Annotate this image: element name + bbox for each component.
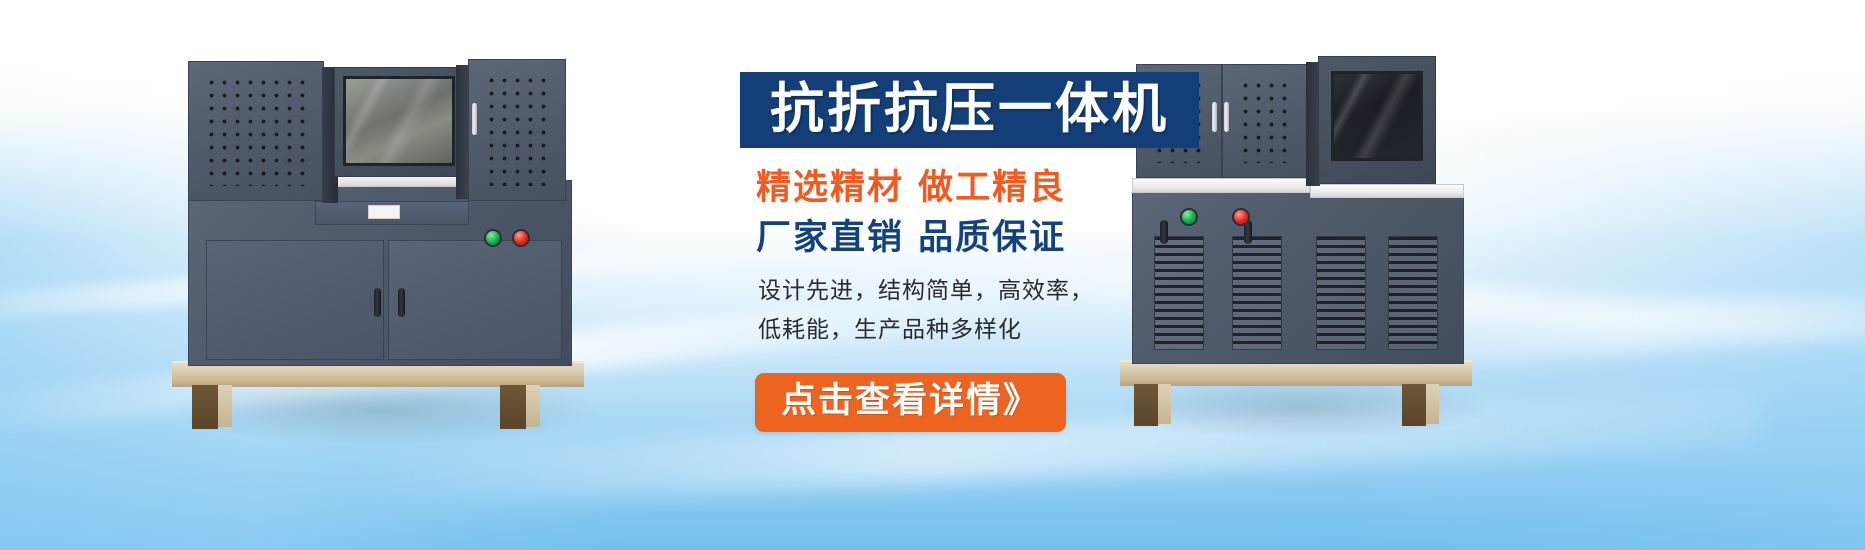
left-monitor-glass [343,76,455,166]
product-image-left [170,45,590,430]
description-line-1: 设计先进，结构简单，高效率， [758,273,1280,310]
left-pallet-leg-2 [500,385,526,429]
left-pallet-leg-1 [192,385,218,429]
left-right-panel-handle [472,103,477,135]
left-drawer-label [368,205,400,219]
left-right-perforated-panel [468,59,566,201]
right-pallet-foot-2 [1426,384,1439,424]
description-line-2: 低耗能，生产品种多样化 [758,312,1280,349]
left-cabinet-door-1 [206,240,384,360]
left-red-stop-led [512,229,530,247]
product-promo-banner: 抗折抗压一体机 精选精材 做工精良 厂家直销 品质保证 设计先进，结构简单，高效… [0,0,1865,550]
subtitle-blue: 厂家直销 品质保证 [756,217,1280,261]
left-top-perforated-panel [188,61,324,201]
right-vent-grille-3 [1316,236,1366,350]
left-door-handle-1 [374,288,381,317]
right-monitor-glass [1331,71,1423,161]
left-pallet-foot-2 [526,385,540,427]
view-details-button-label: 点击查看详情》 [781,381,1040,421]
title-banner: 抗折抗压一体机 [740,72,1199,148]
right-pallet-leg-2 [1402,384,1426,426]
left-cabinet-door-2 [388,240,562,360]
left-right-panel-hole-pattern [485,74,549,186]
right-monitor-frame [1318,56,1436,184]
left-green-power-led [484,229,502,247]
right-vent-grille-4 [1388,236,1438,350]
left-pallet-foot-1 [218,385,232,427]
view-details-button[interactable]: 点击查看详情》 [755,373,1066,432]
subtitle-orange: 精选精材 做工精良 [756,167,1280,211]
left-monitor-frame [334,67,464,177]
right-shelf-strip-2 [1310,184,1464,198]
page-title: 抗折抗压一体机 [770,82,1169,136]
left-door-handle-2 [398,288,405,317]
left-monitor-glare [346,79,452,163]
left-panel-hole-pattern [205,76,307,186]
right-monitor-glare [1334,74,1420,158]
promo-text-block: 抗折抗压一体机 精选精材 做工精良 厂家直销 品质保证 设计先进，结构简单，高效… [740,72,1280,432]
